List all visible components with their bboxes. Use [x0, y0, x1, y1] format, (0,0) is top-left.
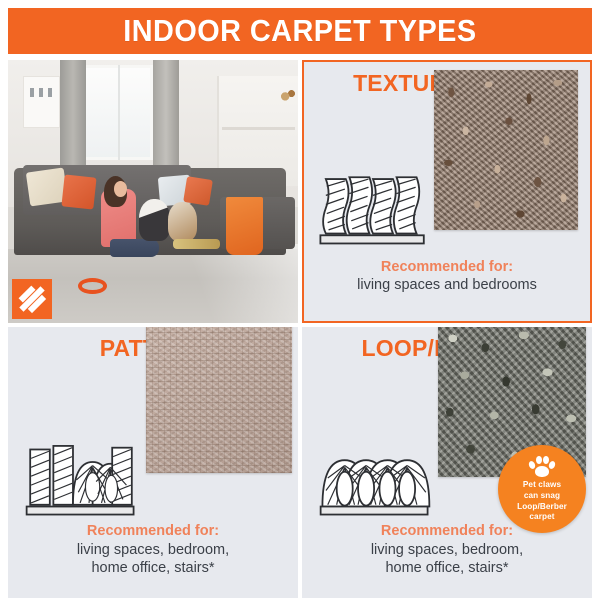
pet-warning-text: Pet claws can snag Loop/Berber carpet: [517, 480, 567, 524]
texture-twist-card: TEXTURE/TWIST: [302, 60, 592, 323]
photo-wall-art: [23, 76, 61, 129]
photo-pillow-orange: [62, 174, 97, 209]
texture-twist-body: [304, 108, 590, 248]
carpet-types-infographic: INDOOR CARPET TYPES: [0, 0, 600, 600]
photo-curtain-left: [60, 60, 86, 176]
panel-loop-berber: LOOP/BERBER: [302, 327, 592, 598]
paw-toe-4: [548, 460, 557, 470]
texture-twist-diagram: [318, 170, 428, 248]
page-title: INDOOR CARPET TYPES: [123, 13, 476, 49]
living-room-photo: [8, 60, 298, 323]
pattern-rec-label: Recommended for:: [8, 522, 298, 541]
panel-texture-twist: TEXTURE/TWIST: [302, 60, 592, 323]
loop-berber-diagram: [316, 437, 434, 519]
photo-window: [83, 65, 153, 160]
pattern-body: [8, 369, 298, 519]
texture-twist-recommendation: Recommended for: living spaces and bedro…: [304, 258, 590, 295]
photo-sunlight: [165, 244, 298, 323]
pattern-card: PATTERN: [8, 327, 298, 598]
texture-twist-swatch: [434, 70, 578, 230]
photo-person-legs: [110, 239, 159, 257]
pattern-diagram: [22, 437, 140, 519]
cut-and-loop-icon: [22, 437, 140, 519]
twisted-pile-icon: [318, 170, 428, 248]
pattern-swatch: [146, 327, 292, 473]
paw-print-icon: [529, 455, 555, 477]
loop-berber-card: LOOP/BERBER: [302, 327, 592, 598]
header-banner: INDOOR CARPET TYPES: [8, 8, 592, 54]
texture-twist-rec-text: living spaces and bedrooms: [304, 276, 590, 295]
loop-berber-rec-text: living spaces, bedroom, home office, sta…: [302, 541, 592, 578]
texture-twist-rec-label: Recommended for:: [304, 258, 590, 277]
pattern-recommendation: Recommended for: living spaces, bedroom,…: [8, 522, 298, 578]
photo-person-face: [114, 181, 127, 197]
photo-dog-bed: [173, 239, 219, 250]
paw-toe-2: [536, 456, 542, 464]
photo-dog-toy-ring: [78, 278, 107, 294]
pet-warning-badge: Pet claws can snag Loop/Berber carpet: [498, 445, 586, 533]
hero-photo-cell: [8, 60, 298, 323]
photo-shelf-decor: [278, 85, 295, 105]
photo-orange-throw: [226, 197, 264, 255]
home-depot-logo-mark: [14, 281, 49, 316]
photo-dog-tan: [168, 202, 197, 241]
loop-pile-icon: [316, 437, 434, 519]
panel-pattern: PATTERN: [8, 327, 298, 598]
panel-grid: TEXTURE/TWIST: [8, 60, 592, 598]
photo-dog-black-white: [139, 199, 171, 241]
loop-berber-recommendation: Recommended for: living spaces, bedroom,…: [302, 522, 592, 578]
loop-berber-rec-label: Recommended for:: [302, 522, 592, 541]
home-depot-logo: [12, 279, 52, 319]
pattern-rec-text: living spaces, bedroom, home office, sta…: [8, 541, 298, 578]
photo-curtain-right: [153, 60, 179, 176]
paw-pad: [535, 466, 549, 477]
paw-toe-3: [543, 456, 549, 464]
